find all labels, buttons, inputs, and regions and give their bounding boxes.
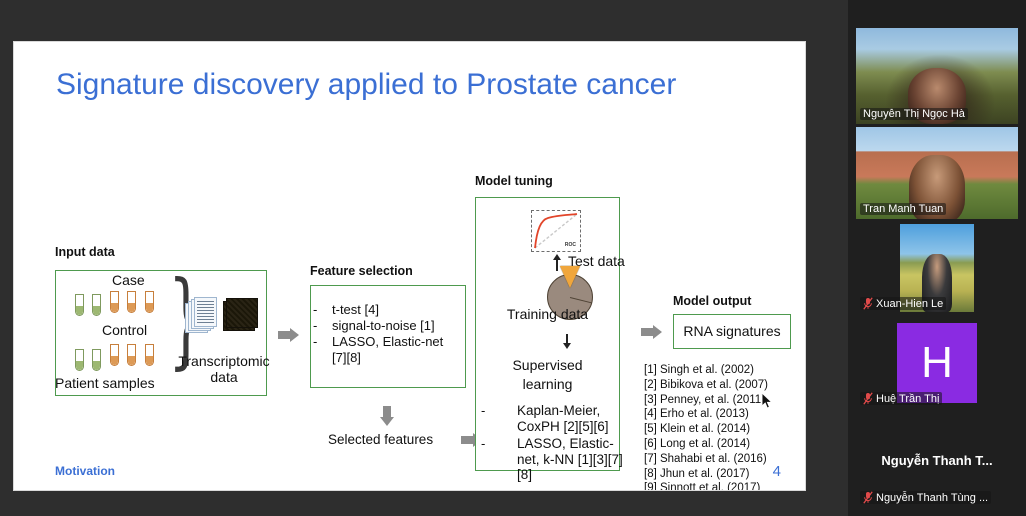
slide-section-tag: Motivation	[55, 464, 115, 478]
presentation-slide: Signature discovery applied to Prostate …	[14, 42, 805, 490]
transcriptomic-label-line1: Transcriptomic	[169, 354, 279, 370]
reference-item: [4] Erho et al. (2013)	[644, 407, 768, 422]
participant-tile-4[interactable]: Nguyễn Thanh T... Nguyễn Thanh Tùng ...	[856, 412, 1018, 508]
feature-selection-item-2: LASSO, Elastic-net [7][8]	[332, 334, 458, 365]
page-title: Signature discovery applied to Prostate …	[56, 68, 786, 102]
fs-dash-2: -	[313, 318, 317, 333]
fs-dash-1: -	[313, 302, 317, 317]
model-tuning-item-0: Kaplan-Meier, CoxPH [2][5][6]	[517, 403, 622, 434]
participant-name-badge: Nguyễn Thị Ngọc Hà	[860, 108, 968, 120]
slide-page-number: 4	[773, 463, 781, 480]
case-label: Case	[112, 273, 145, 289]
mt-dash-1: -	[481, 403, 485, 418]
microphone-muted-icon	[863, 392, 873, 405]
roc-chart: ROC	[531, 210, 581, 252]
feature-selection-heading: Feature selection	[310, 264, 413, 278]
reference-item: [3] Penney, et al. (2011)	[644, 393, 768, 408]
model-output-heading: Model output	[673, 294, 751, 308]
participant-name-badge: Nguyễn Thanh Tùng ...	[860, 491, 991, 504]
participant-tile-3[interactable]: H Huệ Trần Thị	[856, 317, 1018, 409]
supervised-learning-line1: Supervised	[475, 358, 620, 374]
participant-name: Nguyễn Thị Ngọc Hà	[863, 108, 965, 120]
feature-selection-item-1: signal-to-noise [1]	[332, 318, 435, 334]
model-output-value: RNA signatures	[673, 324, 791, 340]
transcriptomic-label-line2: data	[169, 370, 279, 386]
selected-features-label: Selected features	[328, 432, 433, 448]
participant-name-badge: Huệ Trần Thị	[860, 392, 942, 405]
fs-dash-3: -	[313, 334, 317, 349]
reference-item: [7] Shahabi et al. (2016)	[644, 452, 768, 467]
participant-name: Huệ Trần Thị	[876, 393, 939, 405]
participant-name: Nguyễn Thanh Tùng ...	[876, 492, 988, 504]
participant-name: Xuan-Hien Le	[876, 298, 943, 310]
test-data-wedge	[560, 266, 580, 288]
reference-item: [6] Long et al. (2014)	[644, 437, 768, 452]
input-data-heading: Input data	[55, 245, 115, 259]
participant-tile-2[interactable]: Xuan-Hien Le	[856, 222, 1018, 314]
meeting-window: Signature discovery applied to Prostate …	[0, 0, 1026, 516]
participant-name-badge: Xuan-Hien Le	[860, 297, 946, 310]
reference-item: [9] Sinnott et al. (2017)	[644, 481, 768, 490]
reference-item: [5] Klein et al. (2014)	[644, 422, 768, 437]
mt-dash-2: -	[481, 436, 485, 451]
participant-tile-0[interactable]: Nguyễn Thị Ngọc Hà	[856, 28, 1018, 124]
reference-item: [8] Jhun et al. (2017)	[644, 467, 768, 482]
references-list: [1] Singh et al. (2002) [2] Bibikova et …	[644, 363, 768, 490]
mouse-cursor	[761, 392, 773, 410]
participant-display-name: Nguyễn Thanh T...	[881, 453, 992, 468]
reference-item: [2] Bibikova et al. (2007)	[644, 378, 768, 393]
microphone-muted-icon	[863, 491, 873, 504]
training-data-label: Training data	[475, 307, 620, 323]
supervised-learning-line2: learning	[475, 377, 620, 393]
roc-chart-label: ROC	[565, 242, 576, 248]
model-tuning-heading: Model tuning	[475, 174, 553, 188]
shared-screen-region: Signature discovery applied to Prostate …	[0, 0, 848, 516]
participants-filmstrip[interactable]: Nguyễn Thị Ngọc Hà Tran Manh Tuan	[848, 0, 1026, 516]
patient-samples-label: Patient samples	[55, 376, 155, 392]
feature-selection-item-0: t-test [4]	[332, 302, 379, 318]
participant-name: Tran Manh Tuan	[863, 203, 943, 215]
model-tuning-item-1: LASSO, Elastic-net, k-NN [1][3][7][8]	[517, 436, 625, 483]
avatar-initial: H	[897, 323, 977, 403]
control-label: Control	[102, 323, 147, 339]
participant-name-badge: Tran Manh Tuan	[860, 203, 946, 215]
microphone-muted-icon	[863, 297, 873, 310]
reference-item: [1] Singh et al. (2002)	[644, 363, 768, 378]
participant-tile-1[interactable]: Tran Manh Tuan	[856, 127, 1018, 219]
